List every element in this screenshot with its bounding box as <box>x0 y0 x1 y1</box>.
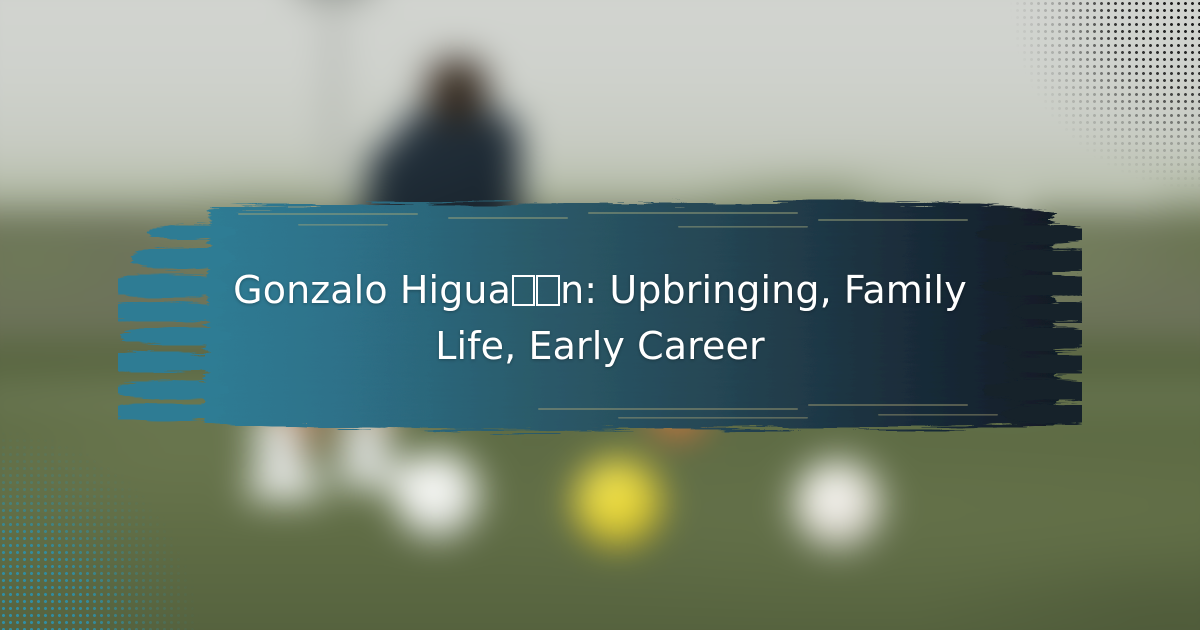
white-football <box>794 460 882 548</box>
floodlight-mast <box>328 0 339 200</box>
missing-glyph-box-icon <box>512 275 536 305</box>
white-football <box>394 452 480 538</box>
player-boot-right <box>336 458 404 488</box>
title-text-before: Gonzalo Higua <box>233 268 511 312</box>
page-title: Gonzalo Higuan: Upbringing, Family Life,… <box>220 262 980 374</box>
player-head <box>426 58 488 124</box>
share-card-canvas: Gonzalo Higuan: Upbringing, Family Life,… <box>0 0 1200 630</box>
title-container: Gonzalo Higuan: Upbringing, Family Life,… <box>150 196 1050 440</box>
yellow-football <box>574 458 662 546</box>
missing-glyph-box-icon <box>536 275 560 305</box>
player-boot-left <box>248 468 322 500</box>
